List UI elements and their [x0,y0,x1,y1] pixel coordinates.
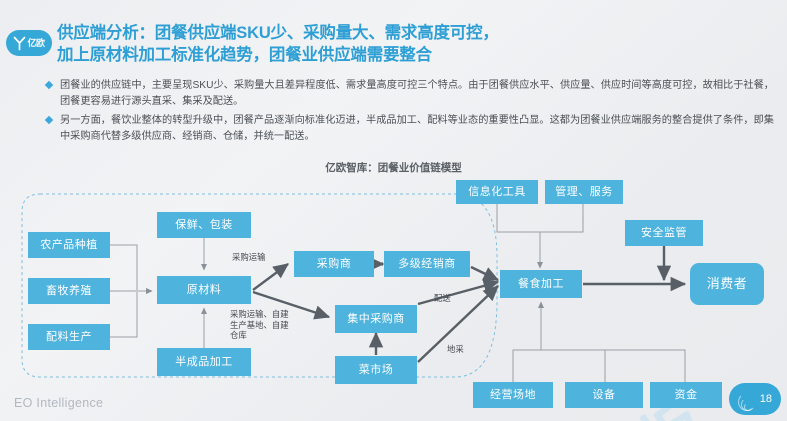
node-meal-processing[interactable]: 餐食加工 [500,270,582,298]
node-ingredient-prod[interactable]: 配料生产 [28,324,110,350]
node-consumer[interactable]: 消费者 [690,263,764,305]
node-central-purchaser[interactable]: 集中采购商 [335,305,417,333]
swoosh-icon [736,395,756,411]
yiou-logo-icon [13,36,26,51]
edge-label-procure-transport: 采购运输 [232,252,266,263]
edge-label-distribution: 配送 [434,293,451,304]
page-number-badge: 18 [729,383,781,415]
yiou-logo-text: 亿欧 [27,39,44,48]
slide-canvas: 亿欧 供应端分析：团餐供应端SKU少、采购量大、需求高度可控， 加上原材料加工标… [0,0,787,421]
node-preservation-packaging[interactable]: 保鲜、包装 [157,212,251,238]
node-capital[interactable]: 资金 [650,382,722,408]
node-raw-material[interactable]: 原材料 [157,276,251,304]
node-it-tools[interactable]: 信息化工具 [456,180,538,204]
bullet-list: 团餐业的供应链中，主要呈现SKU少、采购量大且差异程度低、需求量高度可控三个特点… [44,78,774,148]
edge-label-local-procurement: 地采 [447,344,464,355]
value-chain-diagram: 预告版 [0,172,787,407]
node-management-service[interactable]: 管理、服务 [545,180,623,204]
edge-label-procure-selfbuild: 采购运输、自建 生产基地、自建 仓库 [230,309,289,341]
yiou-logo: 亿欧 [6,30,52,56]
page-number: 18 [760,393,772,405]
diamond-bullet-icon [45,81,53,89]
bullet-text: 团餐业的供应链中，主要呈现SKU少、采购量大且差异程度低、需求量高度可控三个特点… [60,80,774,107]
diamond-bullet-icon [45,116,53,124]
node-equipment[interactable]: 设备 [565,382,643,408]
bullet-text: 另一方面，餐饮业整体的转型升级中，团餐产品逐渐向标准化迈进，半成品加工、配料等业… [60,115,774,142]
node-wet-market[interactable]: 菜市场 [335,356,417,384]
list-item: 团餐业的供应链中，主要呈现SKU少、采购量大且差异程度低、需求量高度可控三个特点… [44,78,774,109]
node-multi-distributor[interactable]: 多级经销商 [384,251,470,277]
node-semi-processing[interactable]: 半成品加工 [157,348,251,376]
list-item: 另一方面，餐饮业整体的转型升级中，团餐产品逐渐向标准化迈进，半成品加工、配料等业… [44,113,774,144]
footer-brand: EO Intelligence [14,396,103,410]
node-farming[interactable]: 农产品种植 [28,232,110,258]
slide-header: 亿欧 供应端分析：团餐供应端SKU少、采购量大、需求高度可控， 加上原材料加工标… [0,12,787,62]
node-business-venue[interactable]: 经营场地 [473,382,553,408]
page-title: 供应端分析：团餐供应端SKU少、采购量大、需求高度可控， 加上原材料加工标准化趋… [57,22,777,66]
node-livestock[interactable]: 畜牧养殖 [28,278,110,304]
node-safety-supervision[interactable]: 安全监管 [625,220,703,246]
node-purchaser[interactable]: 采购商 [294,251,374,277]
